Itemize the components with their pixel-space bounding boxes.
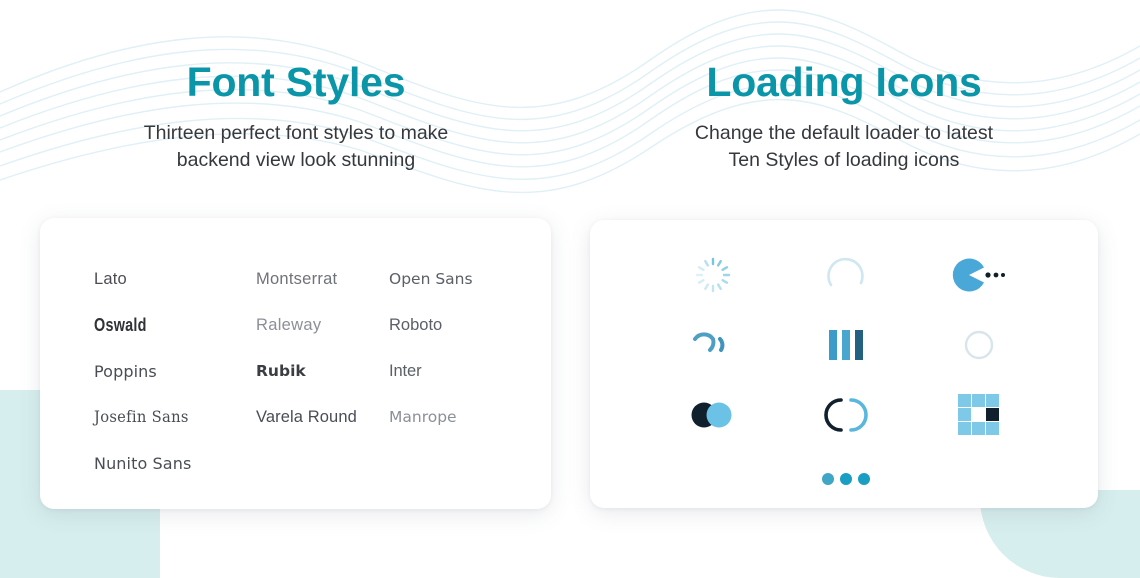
page-title-loading-icons: Loading Icons <box>548 58 1140 106</box>
font-item-inter[interactable]: Inter <box>389 362 524 381</box>
hollow-ring-spinner-icon <box>962 328 996 362</box>
font-item-open-sans[interactable]: Open Sans <box>389 270 524 288</box>
font-item-montserrat[interactable]: Montserrat <box>256 270 389 289</box>
font-item-nunito-sans[interactable]: Nunito Sans <box>94 454 256 473</box>
font-item-roboto[interactable]: Roboto <box>389 316 524 335</box>
loading-icons-subtitle: Change the default loader to latest Ten … <box>624 120 1064 173</box>
three-bars-loader-icon <box>826 328 866 362</box>
font-item-manrope[interactable]: Manrope <box>389 408 524 426</box>
loading-icons-grid <box>646 240 1046 450</box>
loader-cell-5[interactable] <box>817 316 875 374</box>
font-item-poppins[interactable]: Poppins <box>94 362 256 381</box>
page-title-font-styles: Font Styles <box>0 58 592 106</box>
font-styles-header: Font Styles Thirteen perfect font styles… <box>0 58 592 173</box>
loading-icons-grid-last-row <box>646 450 1046 508</box>
loading-icons-header: Loading Icons Change the default loader … <box>548 58 1140 173</box>
loading-icons-subtitle-line2: Ten Styles of loading icons <box>729 149 960 171</box>
facing-arcs-spinner-icon <box>824 394 868 436</box>
font-item-rubik[interactable]: Rubik <box>256 362 389 380</box>
two-circles-loader-icon <box>689 400 737 430</box>
loader-cell-10[interactable] <box>817 450 875 508</box>
font-styles-subtitle-line1: Thirteen perfect font styles to make <box>144 122 449 144</box>
loader-cell-6[interactable] <box>950 316 1008 374</box>
radial-tick-spinner-icon <box>693 255 733 295</box>
loader-cell-7[interactable] <box>684 386 742 444</box>
loading-icons-subtitle-line1: Change the default loader to latest <box>695 122 993 144</box>
font-item-varela-round[interactable]: Varela Round <box>256 408 389 427</box>
font-item-oswald[interactable]: Oswald <box>94 315 224 336</box>
font-styles-subtitle-line2: backend view look stunning <box>177 149 416 171</box>
loader-cell-8[interactable] <box>817 386 875 444</box>
font-item-raleway[interactable]: Raleway <box>256 316 389 335</box>
loader-cell-9[interactable] <box>950 386 1008 444</box>
loading-icons-card <box>590 220 1098 508</box>
loader-cell-1[interactable] <box>684 246 742 304</box>
font-styles-card: Lato Montserrat Open Sans Oswald Raleway… <box>40 218 551 509</box>
page-canvas: Font Styles Thirteen perfect font styles… <box>0 0 1140 578</box>
font-item-josefin-sans[interactable]: Josefin Sans <box>94 408 248 426</box>
pacman-dots-loader-icon <box>952 258 1006 292</box>
grid-blocks-loader-icon <box>958 394 1000 436</box>
loader-cell-3[interactable] <box>950 246 1008 304</box>
circular-arc-spinner-icon <box>822 251 870 299</box>
loader-cell-2[interactable] <box>817 246 875 304</box>
panel-font-styles: Font Styles Thirteen perfect font styles… <box>0 0 592 578</box>
font-styles-subtitle: Thirteen perfect font styles to make bac… <box>76 120 516 173</box>
font-item-lato[interactable]: Lato <box>94 270 256 289</box>
loader-cell-4[interactable] <box>684 316 742 374</box>
three-dots-loader-icon <box>820 471 872 487</box>
panel-loading-icons: Loading Icons Change the default loader … <box>548 0 1140 578</box>
dual-arc-spinner-icon <box>689 325 737 365</box>
font-styles-list: Lato Montserrat Open Sans Oswald Raleway… <box>94 256 524 486</box>
